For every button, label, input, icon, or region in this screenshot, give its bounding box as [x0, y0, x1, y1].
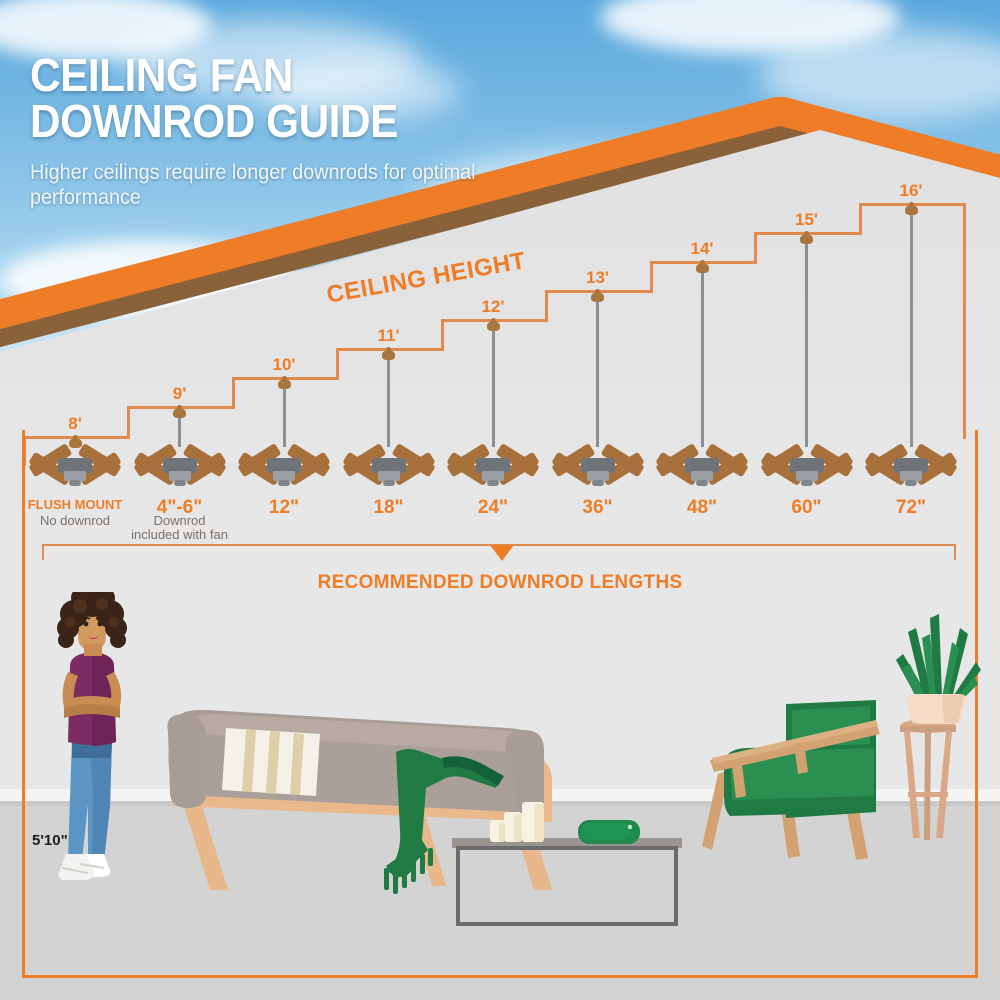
ceiling-height-label-14ft: 14' [672, 239, 732, 259]
ceiling-step-riser [650, 261, 653, 293]
infographic-canvas: CEILING FAN DOWNROD GUIDE Higher ceiling… [0, 0, 1000, 1000]
ceiling-step-riser [336, 348, 339, 380]
ceiling-height-label-10ft: 10' [254, 355, 314, 375]
ceiling-step-riser [441, 319, 444, 351]
ceiling-height-label-11ft: 11' [359, 326, 419, 346]
person-shoes [58, 854, 110, 880]
ceiling-canopy [905, 205, 918, 215]
ceiling-canopy [487, 321, 500, 331]
green-book [578, 820, 640, 846]
ceiling-step-riser [232, 377, 235, 409]
downrod [701, 267, 704, 447]
snake-plant [886, 598, 986, 724]
person-legs [68, 740, 112, 860]
ceiling-step-riser [963, 203, 966, 439]
downrod [805, 238, 808, 447]
person-height-label: 5'10" [32, 832, 68, 849]
tripod-plant-stand [896, 718, 960, 846]
downrod [596, 296, 599, 447]
ceiling-step-riser [754, 232, 757, 264]
candle-group [488, 800, 552, 842]
ceiling-canopy [278, 379, 291, 389]
ceiling-step-riser [859, 203, 862, 235]
ceiling-height-label-16ft: 16' [881, 181, 941, 201]
coffee-table [452, 838, 682, 928]
green-armchair [690, 700, 890, 900]
downrod [492, 325, 495, 447]
ceiling-canopy [382, 350, 395, 360]
ceiling-canopy [173, 408, 186, 418]
ceiling-canopy [591, 292, 604, 302]
ceiling-height-label-12ft: 12' [463, 297, 523, 317]
ceiling-step-riser [545, 290, 548, 322]
downrod [910, 209, 913, 447]
ceiling-height-label-13ft: 13' [568, 268, 628, 288]
ceiling-height-label-15ft: 15' [777, 210, 837, 230]
ceiling-height-label-9ft: 9' [150, 384, 210, 404]
ceiling-canopy [800, 234, 813, 244]
ceiling-canopy [696, 263, 709, 273]
striped-pillow [222, 728, 320, 796]
